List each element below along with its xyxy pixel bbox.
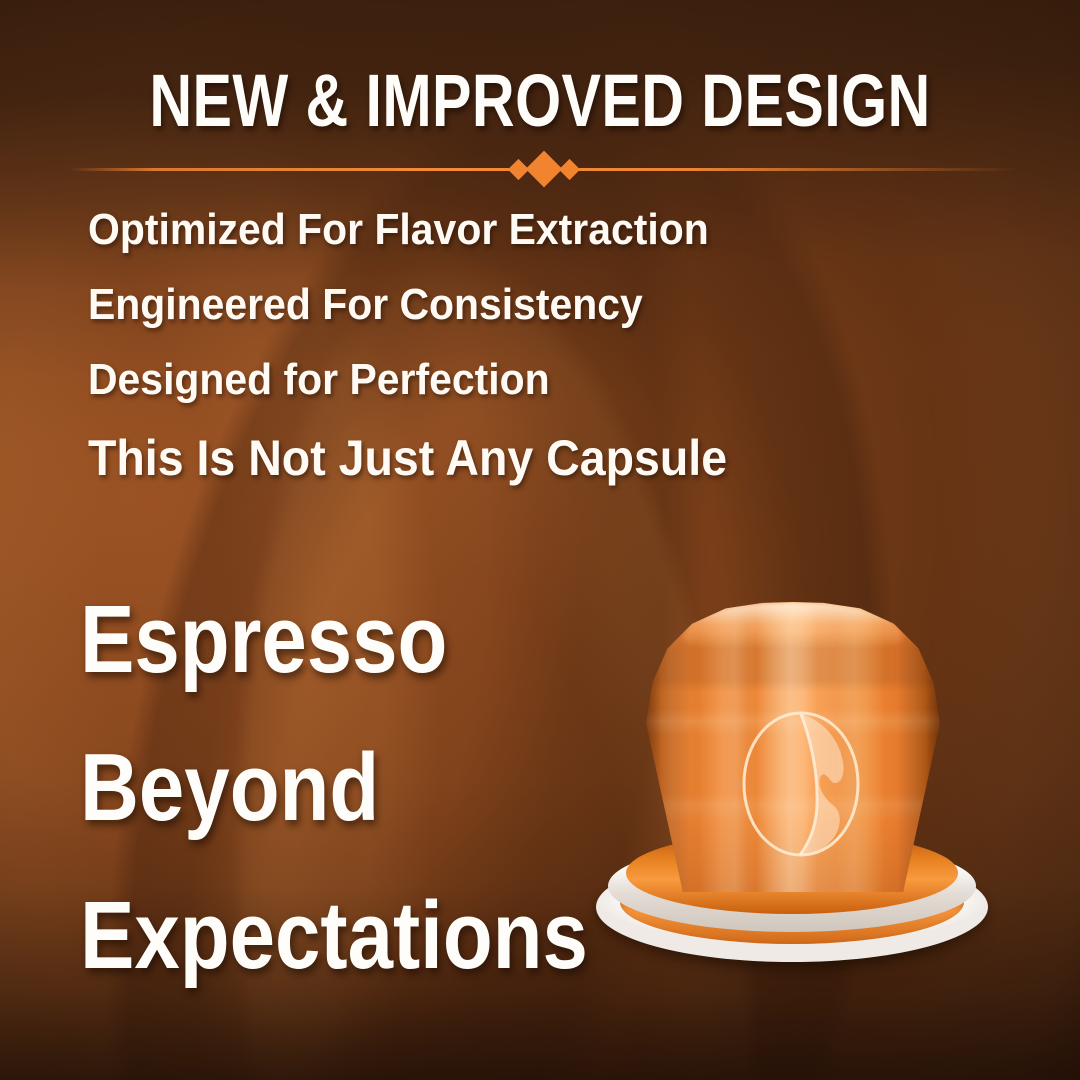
- diamond-small-right-icon: [559, 158, 580, 179]
- feature-lead-statement: This Is Not Just Any Capsule: [88, 433, 727, 483]
- feature-item: Engineered For Consistency: [88, 283, 727, 327]
- diamond-ornament-icon: [511, 156, 577, 182]
- divider: [70, 167, 1018, 171]
- feature-list: Optimized For Flavor Extraction Engineer…: [88, 208, 775, 483]
- product-image-coffee-capsule: [586, 594, 998, 976]
- diamond-large-icon: [526, 151, 563, 188]
- tagline-line: Expectations: [80, 888, 588, 984]
- tagline-line: Beyond: [80, 740, 588, 836]
- coffee-bean-flame-logo-icon: [738, 710, 864, 858]
- promo-poster: NEW & IMPROVED DESIGN Optimized For Flav…: [0, 0, 1080, 1080]
- feature-item: Designed for Perfection: [88, 358, 727, 402]
- tagline-line: Espresso: [80, 592, 588, 688]
- feature-item: Optimized For Flavor Extraction: [88, 208, 727, 252]
- page-title: NEW & IMPROVED DESIGN: [108, 64, 972, 138]
- capsule-dome-highlight: [683, 603, 903, 649]
